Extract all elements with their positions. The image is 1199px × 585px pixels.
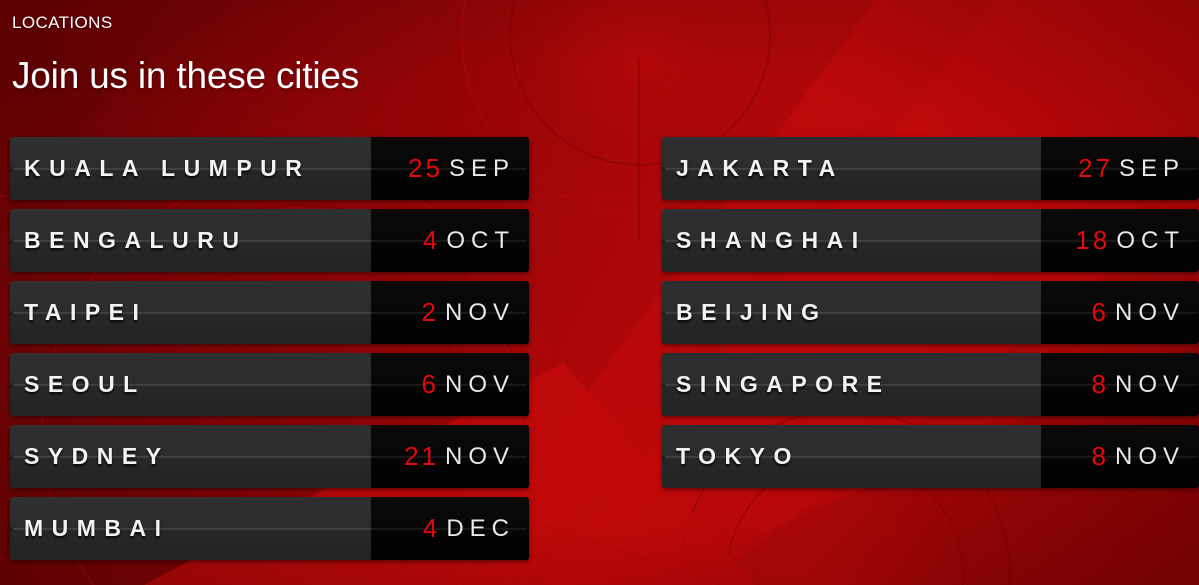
location-date-month: NOV: [1115, 443, 1185, 471]
location-card[interactable]: BENGALURU4OCT: [10, 209, 529, 272]
location-card[interactable]: SINGAPORE8NOV: [662, 353, 1199, 416]
location-date-month: SEP: [449, 155, 515, 183]
location-card[interactable]: TAIPEI2NOV: [10, 281, 529, 344]
location-date-panel: 25SEP: [371, 137, 529, 200]
location-city-panel: SINGAPORE: [662, 353, 1041, 416]
location-city-name: SHANGHAI: [676, 227, 867, 254]
location-date-month: OCT: [1116, 227, 1185, 255]
location-city-name: SYDNEY: [24, 443, 170, 470]
location-date-month: NOV: [1115, 299, 1185, 327]
location-date-panel: 6NOV: [371, 353, 529, 416]
location-date-month: NOV: [445, 443, 515, 471]
location-city-panel: BENGALURU: [10, 209, 371, 272]
location-date-panel: 27SEP: [1041, 137, 1199, 200]
location-city-name: TAIPEI: [24, 299, 147, 326]
location-date-day: 27: [1078, 153, 1113, 184]
location-date-month: NOV: [1115, 371, 1185, 399]
location-city-panel: SYDNEY: [10, 425, 371, 488]
location-city-name: MUMBAI: [24, 515, 170, 542]
location-date-month: SEP: [1119, 155, 1185, 183]
location-date-month: OCT: [446, 227, 515, 255]
location-date-day: 8: [1092, 369, 1109, 400]
section-header: LOCATIONS Join us in these cities: [12, 14, 359, 97]
location-city-panel: SEOUL: [10, 353, 371, 416]
location-city-panel: BEIJING: [662, 281, 1041, 344]
location-city-panel: MUMBAI: [10, 497, 371, 560]
location-city-panel: KUALA LUMPUR: [10, 137, 371, 200]
location-city-name: SINGAPORE: [676, 371, 891, 398]
location-date-month: NOV: [445, 371, 515, 399]
location-city-name: BEIJING: [676, 299, 828, 326]
location-card[interactable]: SEOUL6NOV: [10, 353, 529, 416]
location-card[interactable]: TOKYO8NOV: [662, 425, 1199, 488]
location-date-panel: 8NOV: [1041, 425, 1199, 488]
location-date-panel: 4OCT: [371, 209, 529, 272]
locations-column-left: KUALA LUMPUR25SEPBENGALURU4OCTTAIPEI2NOV…: [10, 137, 529, 569]
location-date-day: 6: [1092, 297, 1109, 328]
location-city-panel: JAKARTA: [662, 137, 1041, 200]
location-city-name: BENGALURU: [24, 227, 247, 254]
location-card[interactable]: KUALA LUMPUR25SEP: [10, 137, 529, 200]
location-card[interactable]: JAKARTA27SEP: [662, 137, 1199, 200]
location-date-day: 25: [408, 153, 443, 184]
location-date-month: DEC: [446, 515, 515, 543]
location-city-panel: TAIPEI: [10, 281, 371, 344]
location-date-day: 4: [423, 513, 440, 544]
location-date-day: 8: [1092, 441, 1109, 472]
location-date-day: 4: [423, 225, 440, 256]
location-card[interactable]: MUMBAI4DEC: [10, 497, 529, 560]
location-date-panel: 21NOV: [371, 425, 529, 488]
locations-column-right: JAKARTA27SEPSHANGHAI18OCTBEIJING6NOVSING…: [662, 137, 1199, 497]
location-city-name: SEOUL: [24, 371, 146, 398]
location-city-panel: TOKYO: [662, 425, 1041, 488]
location-city-panel: SHANGHAI: [662, 209, 1041, 272]
section-eyebrow: LOCATIONS: [12, 14, 359, 33]
location-date-day: 21: [404, 441, 439, 472]
location-card[interactable]: SHANGHAI18OCT: [662, 209, 1199, 272]
page-title: Join us in these cities: [12, 55, 359, 98]
location-city-name: TOKYO: [676, 443, 800, 470]
location-city-name: KUALA LUMPUR: [24, 155, 310, 182]
location-date-day: 18: [1075, 225, 1110, 256]
location-card[interactable]: SYDNEY21NOV: [10, 425, 529, 488]
location-date-panel: 2NOV: [371, 281, 529, 344]
location-card[interactable]: BEIJING6NOV: [662, 281, 1199, 344]
location-date-panel: 8NOV: [1041, 353, 1199, 416]
location-date-panel: 6NOV: [1041, 281, 1199, 344]
location-date-panel: 4DEC: [371, 497, 529, 560]
location-date-panel: 18OCT: [1041, 209, 1199, 272]
location-date-month: NOV: [445, 299, 515, 327]
location-city-name: JAKARTA: [676, 155, 844, 182]
location-date-day: 2: [422, 297, 439, 328]
location-date-day: 6: [422, 369, 439, 400]
locations-section: LOCATIONS Join us in these cities KUALA …: [0, 0, 1199, 585]
